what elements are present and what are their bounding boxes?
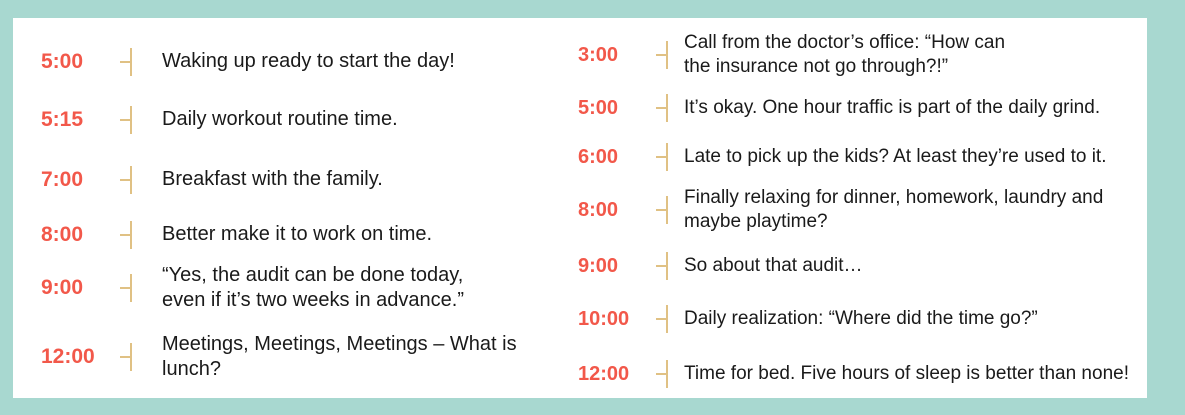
timeline-tick-icon <box>655 360 668 388</box>
tick-bar <box>130 343 132 371</box>
schedule-panel: 5:00Waking up ready to start the day!5:1… <box>13 18 1147 398</box>
timeline-tick-icon <box>119 48 132 76</box>
schedule-row: 3:00Call from the doctor’s office: “How … <box>578 29 1165 81</box>
tick-bar <box>130 166 132 194</box>
schedule-description: Time for bed. Five hours of sleep is bet… <box>684 362 1165 386</box>
schedule-time: 3:00 <box>578 45 655 66</box>
schedule-description: Finally relaxing for dinner, homework, l… <box>684 186 1165 234</box>
schedule-row: 10:00Daily realization: “Where did the t… <box>578 304 1165 334</box>
timeline-tick-icon <box>655 305 668 333</box>
daily-schedule-infographic: 5:00Waking up ready to start the day!5:1… <box>0 0 1185 415</box>
timeline-tick-icon <box>655 252 668 280</box>
schedule-row: 12:00Time for bed. Five hours of sleep i… <box>578 359 1165 389</box>
schedule-row: 6:00Late to pick up the kids? At least t… <box>578 142 1165 172</box>
schedule-row: 5:15Daily workout routine time. <box>13 105 560 135</box>
schedule-row: 12:00Meetings, Meetings, Meetings – What… <box>13 342 560 372</box>
schedule-row: 7:00Breakfast with the family. <box>13 165 560 195</box>
schedule-description: Late to pick up the kids? At least they’… <box>684 145 1165 169</box>
timeline-tick-icon <box>655 41 668 69</box>
schedule-time: 8:00 <box>41 224 119 246</box>
schedule-time: 9:00 <box>578 256 655 277</box>
schedule-row: 9:00So about that audit… <box>578 251 1165 281</box>
tick-bar <box>666 94 668 122</box>
timeline-tick-icon <box>119 274 132 302</box>
schedule-description: It’s okay. One hour traffic is part of t… <box>684 96 1165 120</box>
schedule-description: “Yes, the audit can be done today, even … <box>162 263 560 313</box>
tick-bar <box>666 252 668 280</box>
schedule-column-right: 3:00Call from the doctor’s office: “How … <box>560 18 1147 398</box>
schedule-row: 5:00It’s okay. One hour traffic is part … <box>578 93 1165 123</box>
timeline-tick-icon <box>655 143 668 171</box>
timeline-tick-icon <box>655 196 668 224</box>
tick-bar <box>666 305 668 333</box>
schedule-row: 8:00Better make it to work on time. <box>13 220 560 250</box>
timeline-tick-icon <box>119 221 132 249</box>
schedule-description: Better make it to work on time. <box>162 222 560 247</box>
timeline-tick-icon <box>119 106 132 134</box>
tick-bar <box>666 360 668 388</box>
tick-bar <box>130 221 132 249</box>
schedule-row: 9:00“Yes, the audit can be done today, e… <box>13 262 560 314</box>
schedule-time: 10:00 <box>578 309 655 330</box>
tick-bar <box>666 196 668 224</box>
schedule-row: 5:00Waking up ready to start the day! <box>13 47 560 77</box>
schedule-time: 6:00 <box>578 147 655 168</box>
tick-bar <box>130 106 132 134</box>
schedule-description: Waking up ready to start the day! <box>162 49 560 74</box>
tick-bar <box>130 274 132 302</box>
schedule-time: 9:00 <box>41 277 119 299</box>
timeline-tick-icon <box>119 343 132 371</box>
schedule-row: 8:00Finally relaxing for dinner, homewor… <box>578 184 1165 236</box>
timeline-tick-icon <box>655 94 668 122</box>
schedule-description: Meetings, Meetings, Meetings – What is l… <box>162 332 560 382</box>
schedule-time: 5:00 <box>578 98 655 119</box>
schedule-time: 5:00 <box>41 51 119 73</box>
schedule-time: 12:00 <box>578 364 655 385</box>
schedule-time: 8:00 <box>578 200 655 221</box>
tick-bar <box>666 143 668 171</box>
schedule-column-left: 5:00Waking up ready to start the day!5:1… <box>13 18 560 398</box>
schedule-description: Call from the doctor’s office: “How can … <box>684 31 1165 79</box>
schedule-time: 5:15 <box>41 109 119 131</box>
schedule-description: Daily realization: “Where did the time g… <box>684 307 1165 331</box>
schedule-time: 12:00 <box>41 346 119 368</box>
timeline-tick-icon <box>119 166 132 194</box>
tick-bar <box>666 41 668 69</box>
schedule-description: So about that audit… <box>684 254 1165 278</box>
schedule-description: Daily workout routine time. <box>162 107 560 132</box>
schedule-time: 7:00 <box>41 169 119 191</box>
schedule-description: Breakfast with the family. <box>162 167 560 192</box>
tick-bar <box>130 48 132 76</box>
